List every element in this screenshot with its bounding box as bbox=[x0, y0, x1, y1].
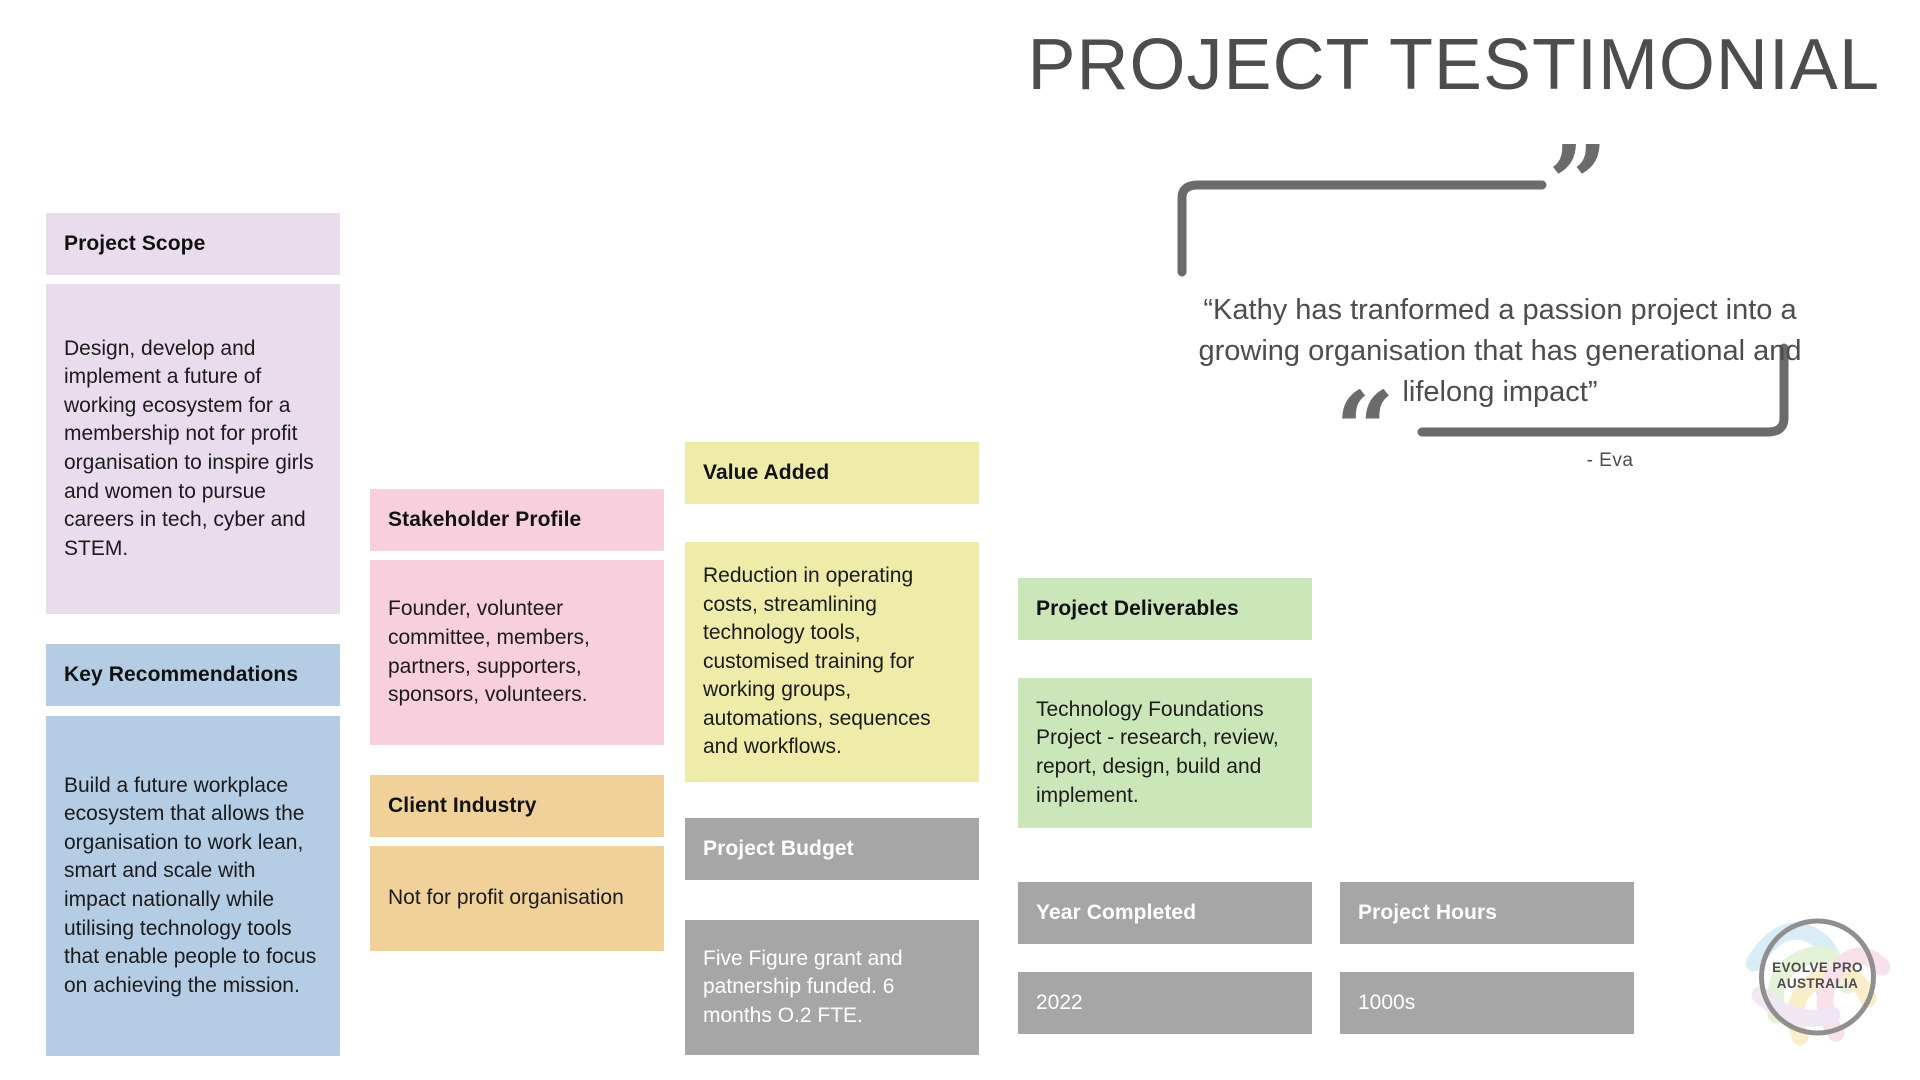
testimonial-quote-text: “Kathy has tranformed a passion project … bbox=[1180, 290, 1820, 414]
card-body-key-recommendations: Build a future workplace ecosystem that … bbox=[46, 716, 340, 1056]
evolve-pro-australia-logo: EVOLVE PRO AUSTRALIA bbox=[1740, 905, 1895, 1060]
card-heading-label-key-recommendations: Key Recommendations bbox=[64, 663, 326, 687]
card-body-project-budget: Five Figure grant and patnership funded.… bbox=[685, 920, 979, 1055]
card-heading-label-project-budget: Project Budget bbox=[703, 837, 965, 861]
card-body-project-hours: 1000s bbox=[1340, 972, 1634, 1034]
card-body-text-stakeholder-profile: Founder, volunteer committee, members, p… bbox=[388, 595, 646, 709]
card-heading-value-added: Value Added bbox=[685, 442, 979, 504]
card-heading-project-hours: Project Hours bbox=[1340, 882, 1634, 944]
card-body-text-value-added: Reduction in operating costs, streamlini… bbox=[703, 562, 961, 762]
slide-canvas: PROJECT TESTIMONIAL Project ScopeDesign,… bbox=[0, 0, 1920, 1080]
card-heading-key-recommendations: Key Recommendations bbox=[46, 644, 340, 706]
testimonial-author: - Eva bbox=[1480, 450, 1740, 472]
closing-quote-icon: ” bbox=[1548, 132, 1608, 236]
card-body-text-project-deliverables: Technology Foundations Project - researc… bbox=[1036, 696, 1294, 810]
card-heading-label-stakeholder-profile: Stakeholder Profile bbox=[388, 508, 650, 532]
card-heading-project-budget: Project Budget bbox=[685, 818, 979, 880]
card-body-text-project-budget: Five Figure grant and patnership funded.… bbox=[703, 945, 961, 1031]
card-heading-label-year-completed: Year Completed bbox=[1036, 901, 1298, 925]
card-heading-project-scope: Project Scope bbox=[46, 213, 340, 275]
bracket-top-line bbox=[1182, 185, 1542, 272]
card-body-text-project-hours: 1000s bbox=[1358, 989, 1616, 1018]
page-title: PROJECT TESTIMONIAL bbox=[960, 28, 1880, 104]
card-body-stakeholder-profile: Founder, volunteer committee, members, p… bbox=[370, 560, 664, 745]
card-heading-client-industry: Client Industry bbox=[370, 775, 664, 837]
card-heading-label-project-scope: Project Scope bbox=[64, 232, 326, 256]
card-heading-label-project-deliverables: Project Deliverables bbox=[1036, 597, 1298, 621]
logo-wordmark: EVOLVE PRO AUSTRALIA bbox=[1740, 960, 1895, 992]
card-body-project-scope: Design, develop and implement a future o… bbox=[46, 284, 340, 614]
testimonial-block: ” “ “Kathy has tranformed a passion proj… bbox=[1150, 150, 1850, 500]
card-body-text-year-completed: 2022 bbox=[1036, 989, 1294, 1018]
card-heading-label-client-industry: Client Industry bbox=[388, 794, 650, 818]
card-heading-label-value-added: Value Added bbox=[703, 461, 965, 485]
card-heading-label-project-hours: Project Hours bbox=[1358, 901, 1620, 925]
card-body-value-added: Reduction in operating costs, streamlini… bbox=[685, 542, 979, 782]
card-heading-project-deliverables: Project Deliverables bbox=[1018, 578, 1312, 640]
card-body-text-key-recommendations: Build a future workplace ecosystem that … bbox=[64, 772, 322, 1000]
card-heading-stakeholder-profile: Stakeholder Profile bbox=[370, 489, 664, 551]
card-body-text-project-scope: Design, develop and implement a future o… bbox=[64, 335, 322, 563]
card-body-year-completed: 2022 bbox=[1018, 972, 1312, 1034]
card-body-text-client-industry: Not for profit organisation bbox=[388, 884, 646, 913]
card-body-client-industry: Not for profit organisation bbox=[370, 846, 664, 951]
card-body-project-deliverables: Technology Foundations Project - researc… bbox=[1018, 678, 1312, 828]
card-heading-year-completed: Year Completed bbox=[1018, 882, 1312, 944]
